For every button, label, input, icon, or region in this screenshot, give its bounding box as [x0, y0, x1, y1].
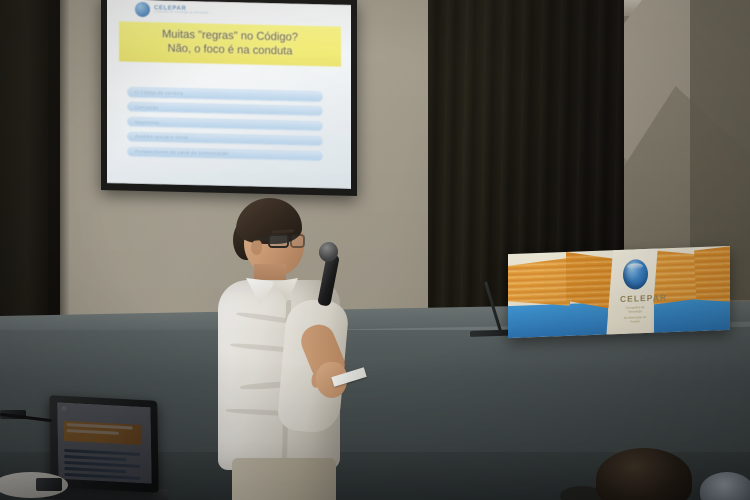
slide-title-band: Muitas "regras" no Código? Não, o foco é… — [119, 21, 341, 66]
banner-blue-block — [694, 298, 730, 331]
glasses-lens-left — [268, 234, 289, 248]
bullet-label: Assédio sexual e moral — [135, 134, 188, 140]
celepar-orb-icon — [135, 2, 150, 17]
list-item: O Código de conduta — [127, 87, 323, 102]
banner-brand-name: CELEPAR — [620, 293, 650, 304]
laptop-screen[interactable] — [57, 403, 151, 484]
projection-screen-frame: CELEPAR Companhia de Tecnologia da Infor… — [101, 0, 357, 196]
bullet-label: O Código de conduta — [135, 90, 183, 96]
banner-blue-block — [508, 304, 564, 338]
celepar-orb-icon — [623, 259, 648, 290]
banner-orange-panel — [508, 258, 570, 308]
laptop-lid — [49, 395, 159, 493]
banner-logo-group: CELEPAR Companhia de Tecnologia da Infor… — [620, 259, 650, 325]
banner-subtitle-2: da Informação do Paraná — [620, 315, 650, 325]
slide-logo-tagline: Companhia de Tecnologia da Informação — [154, 11, 209, 15]
banner-subtitle-1: Companhia de Tecnologia — [620, 304, 650, 314]
audience-head — [700, 472, 750, 500]
bullet-label: Nepotismo — [135, 119, 159, 125]
stage-curtain-left — [0, 0, 60, 360]
laptop-screen-dimming — [57, 403, 151, 484]
banner-orange-panel — [694, 246, 730, 303]
bullet-label: Fortalecimento do canal de comunicação — [135, 149, 228, 156]
presenter — [206, 196, 366, 500]
banner-blue-block — [654, 299, 694, 332]
presenter-trousers — [232, 458, 336, 500]
auditorium-scene: CELEPAR Companhia de Tecnologia da Infor… — [0, 0, 750, 500]
list-item: Corrupção — [127, 102, 323, 117]
projected-slide: CELEPAR Companhia de Tecnologia da Infor… — [107, 0, 351, 189]
glasses-icon — [268, 234, 306, 249]
list-item: Fortalecimento do canal de comunicação — [127, 146, 323, 161]
slide-bullet-list: O Código de conduta Corrupção Nepotismo … — [127, 87, 323, 162]
presenter-ear — [251, 240, 262, 255]
banner-blue-block — [564, 302, 608, 336]
presentation-remote[interactable] — [36, 478, 62, 491]
bullet-label: Corrupção — [135, 104, 159, 110]
list-item: Assédio sexual e moral — [127, 131, 323, 146]
list-item: Nepotismo — [127, 116, 323, 131]
slide-celepar-logo: CELEPAR Companhia de Tecnologia da Infor… — [135, 2, 209, 19]
glasses-lens-right — [290, 234, 305, 248]
celepar-banner: CELEPAR Companhia de Tecnologia da Infor… — [508, 246, 730, 338]
